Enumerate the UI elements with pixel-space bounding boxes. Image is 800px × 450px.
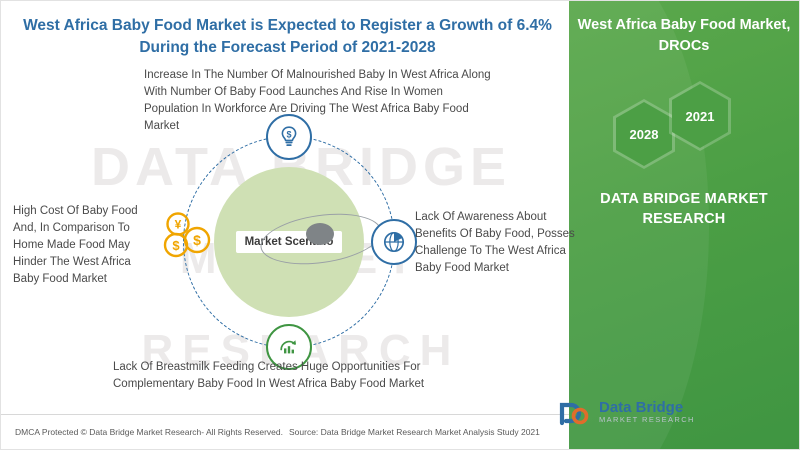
- panel-brand-line-2: RESEARCH: [569, 209, 799, 229]
- year-hexagons: 2028 2021: [569, 81, 799, 171]
- hexagon-year-2028-label: 2028: [630, 127, 659, 142]
- brand-logo-line-1: Data Bridge: [599, 400, 695, 416]
- hexagon-year-2021-label: 2021: [686, 109, 715, 124]
- page-title: West Africa Baby Food Market is Expected…: [15, 15, 560, 59]
- panel-brand: DATA BRIDGE MARKET RESEARCH: [569, 189, 799, 229]
- market-scenario-diagram: Market Scenario $: [183, 136, 395, 348]
- right-panel: West Africa Baby Food Market, DROCs 2028…: [569, 1, 799, 450]
- brand-logo: Data Bridge MARKET RESEARCH: [553, 389, 733, 435]
- bridge-mark-icon: [553, 392, 593, 432]
- brand-logo-text: Data Bridge MARKET RESEARCH: [599, 400, 695, 424]
- globe-chart-icon: [371, 219, 417, 265]
- orbit-planet-icon: [306, 223, 334, 245]
- svg-text:¥: ¥: [175, 218, 182, 232]
- hexagon-year-2021: 2021: [669, 81, 731, 151]
- callout-challenge: Lack Of Awareness About Benefits Of Baby…: [415, 209, 575, 277]
- footer-copyright: DMCA Protected © Data Bridge Market Rese…: [15, 427, 283, 437]
- hexagon-year-2028: 2028: [613, 99, 675, 169]
- callout-opportunity: Lack Of Breastmilk Feeding Creates Huge …: [113, 359, 473, 393]
- footer-source: Source: Data Bridge Market Research Mark…: [289, 427, 540, 437]
- footer-divider: [1, 414, 571, 415]
- market-scenario-core: Market Scenario: [214, 167, 364, 317]
- svg-text:$: $: [172, 238, 180, 253]
- panel-brand-line-1: DATA BRIDGE MARKET: [569, 189, 799, 209]
- infographic-page: DATA BRIDGE MARKET RESEARCH West Africa …: [0, 0, 800, 450]
- coins-yen-dollar-icon: ¥ $ $: [157, 210, 219, 272]
- panel-title: West Africa Baby Food Market, DROCs: [569, 15, 799, 57]
- brand-logo-line-2: MARKET RESEARCH: [599, 416, 695, 424]
- callout-driver: Increase In The Number Of Malnourished B…: [144, 67, 494, 135]
- svg-text:$: $: [193, 232, 201, 248]
- callout-restraint: High Cost Of Baby Food And, In Compariso…: [13, 203, 153, 288]
